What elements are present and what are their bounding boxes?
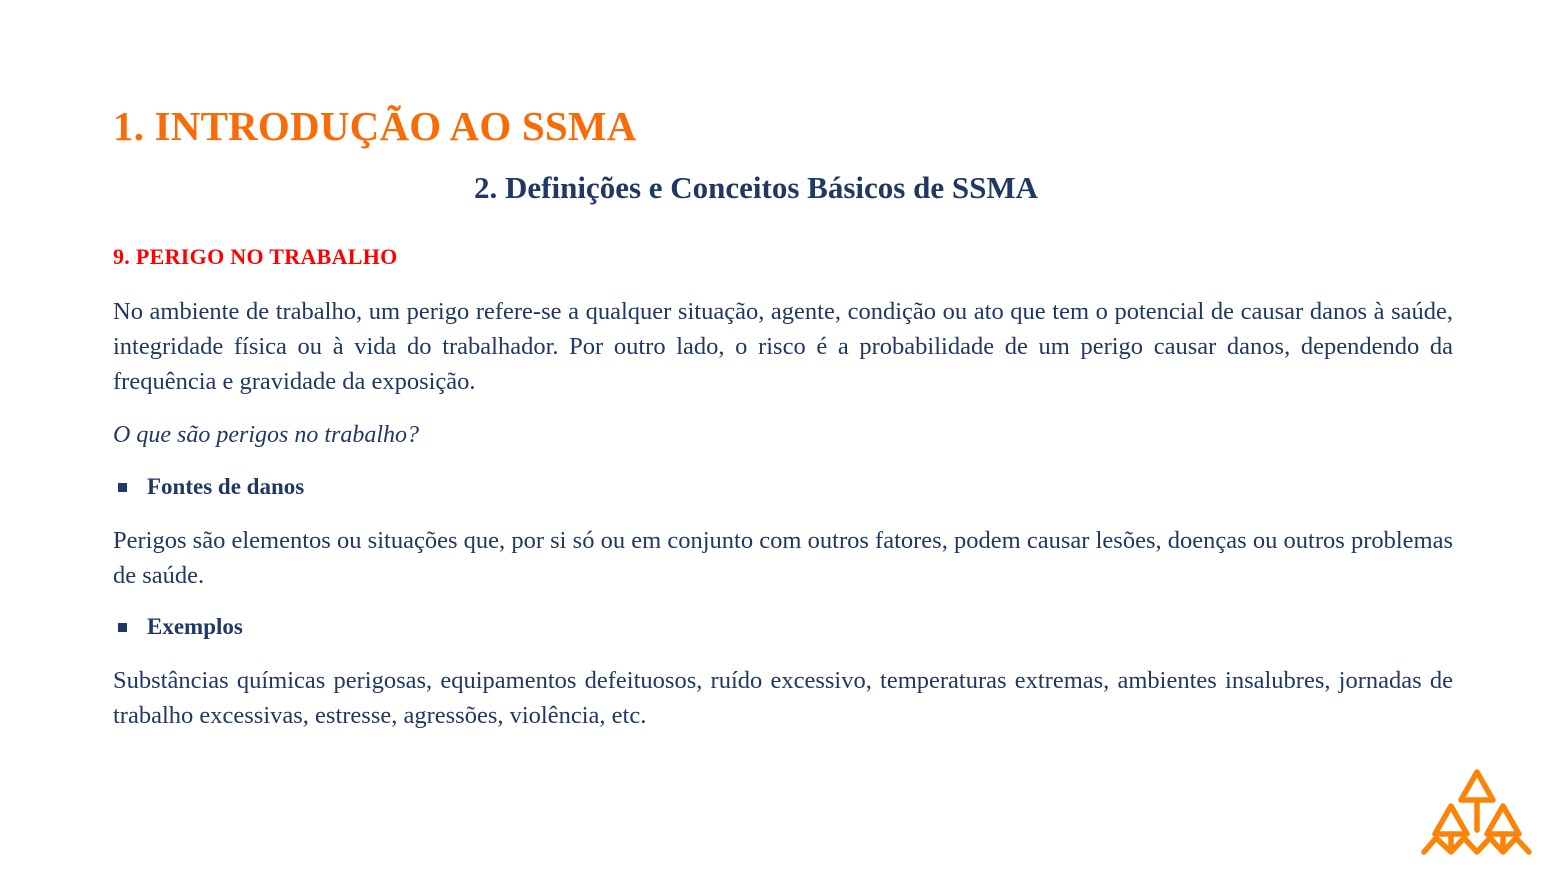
slide-canvas: 1. INTRODUÇÃO AO SSMA 2. Definições e Co…: [0, 0, 1564, 874]
page-subtitle: 2. Definições e Conceitos Básicos de SSM…: [474, 170, 1038, 206]
square-bullet-icon: [118, 623, 127, 632]
page-title: 1. INTRODUÇÃO AO SSMA: [113, 102, 637, 150]
bullet-label: Fontes de danos: [147, 474, 304, 500]
square-bullet-icon: [118, 483, 127, 492]
bullet-item-fontes-de-danos: Fontes de danos: [113, 474, 304, 500]
fontes-de-danos-paragraph: Perigos são elementos ou situações que, …: [113, 523, 1453, 593]
tree-canopy-top: [1461, 772, 1493, 800]
zigzag-ground-line: [1424, 838, 1529, 852]
section-heading: 9. PERIGO NO TRABALHO: [113, 244, 398, 270]
intro-paragraph: No ambiente de trabalho, um perigo refer…: [113, 294, 1453, 399]
tree-canopy-left: [1435, 806, 1467, 834]
bullet-item-exemplos: Exemplos: [113, 614, 243, 640]
three-trees-logo: [1418, 764, 1536, 864]
bullet-label: Exemplos: [147, 614, 243, 640]
question-line: O que são perigos no trabalho?: [113, 422, 419, 449]
exemplos-paragraph: Substâncias químicas perigosas, equipame…: [113, 663, 1453, 733]
tree-canopy-right: [1487, 806, 1519, 834]
